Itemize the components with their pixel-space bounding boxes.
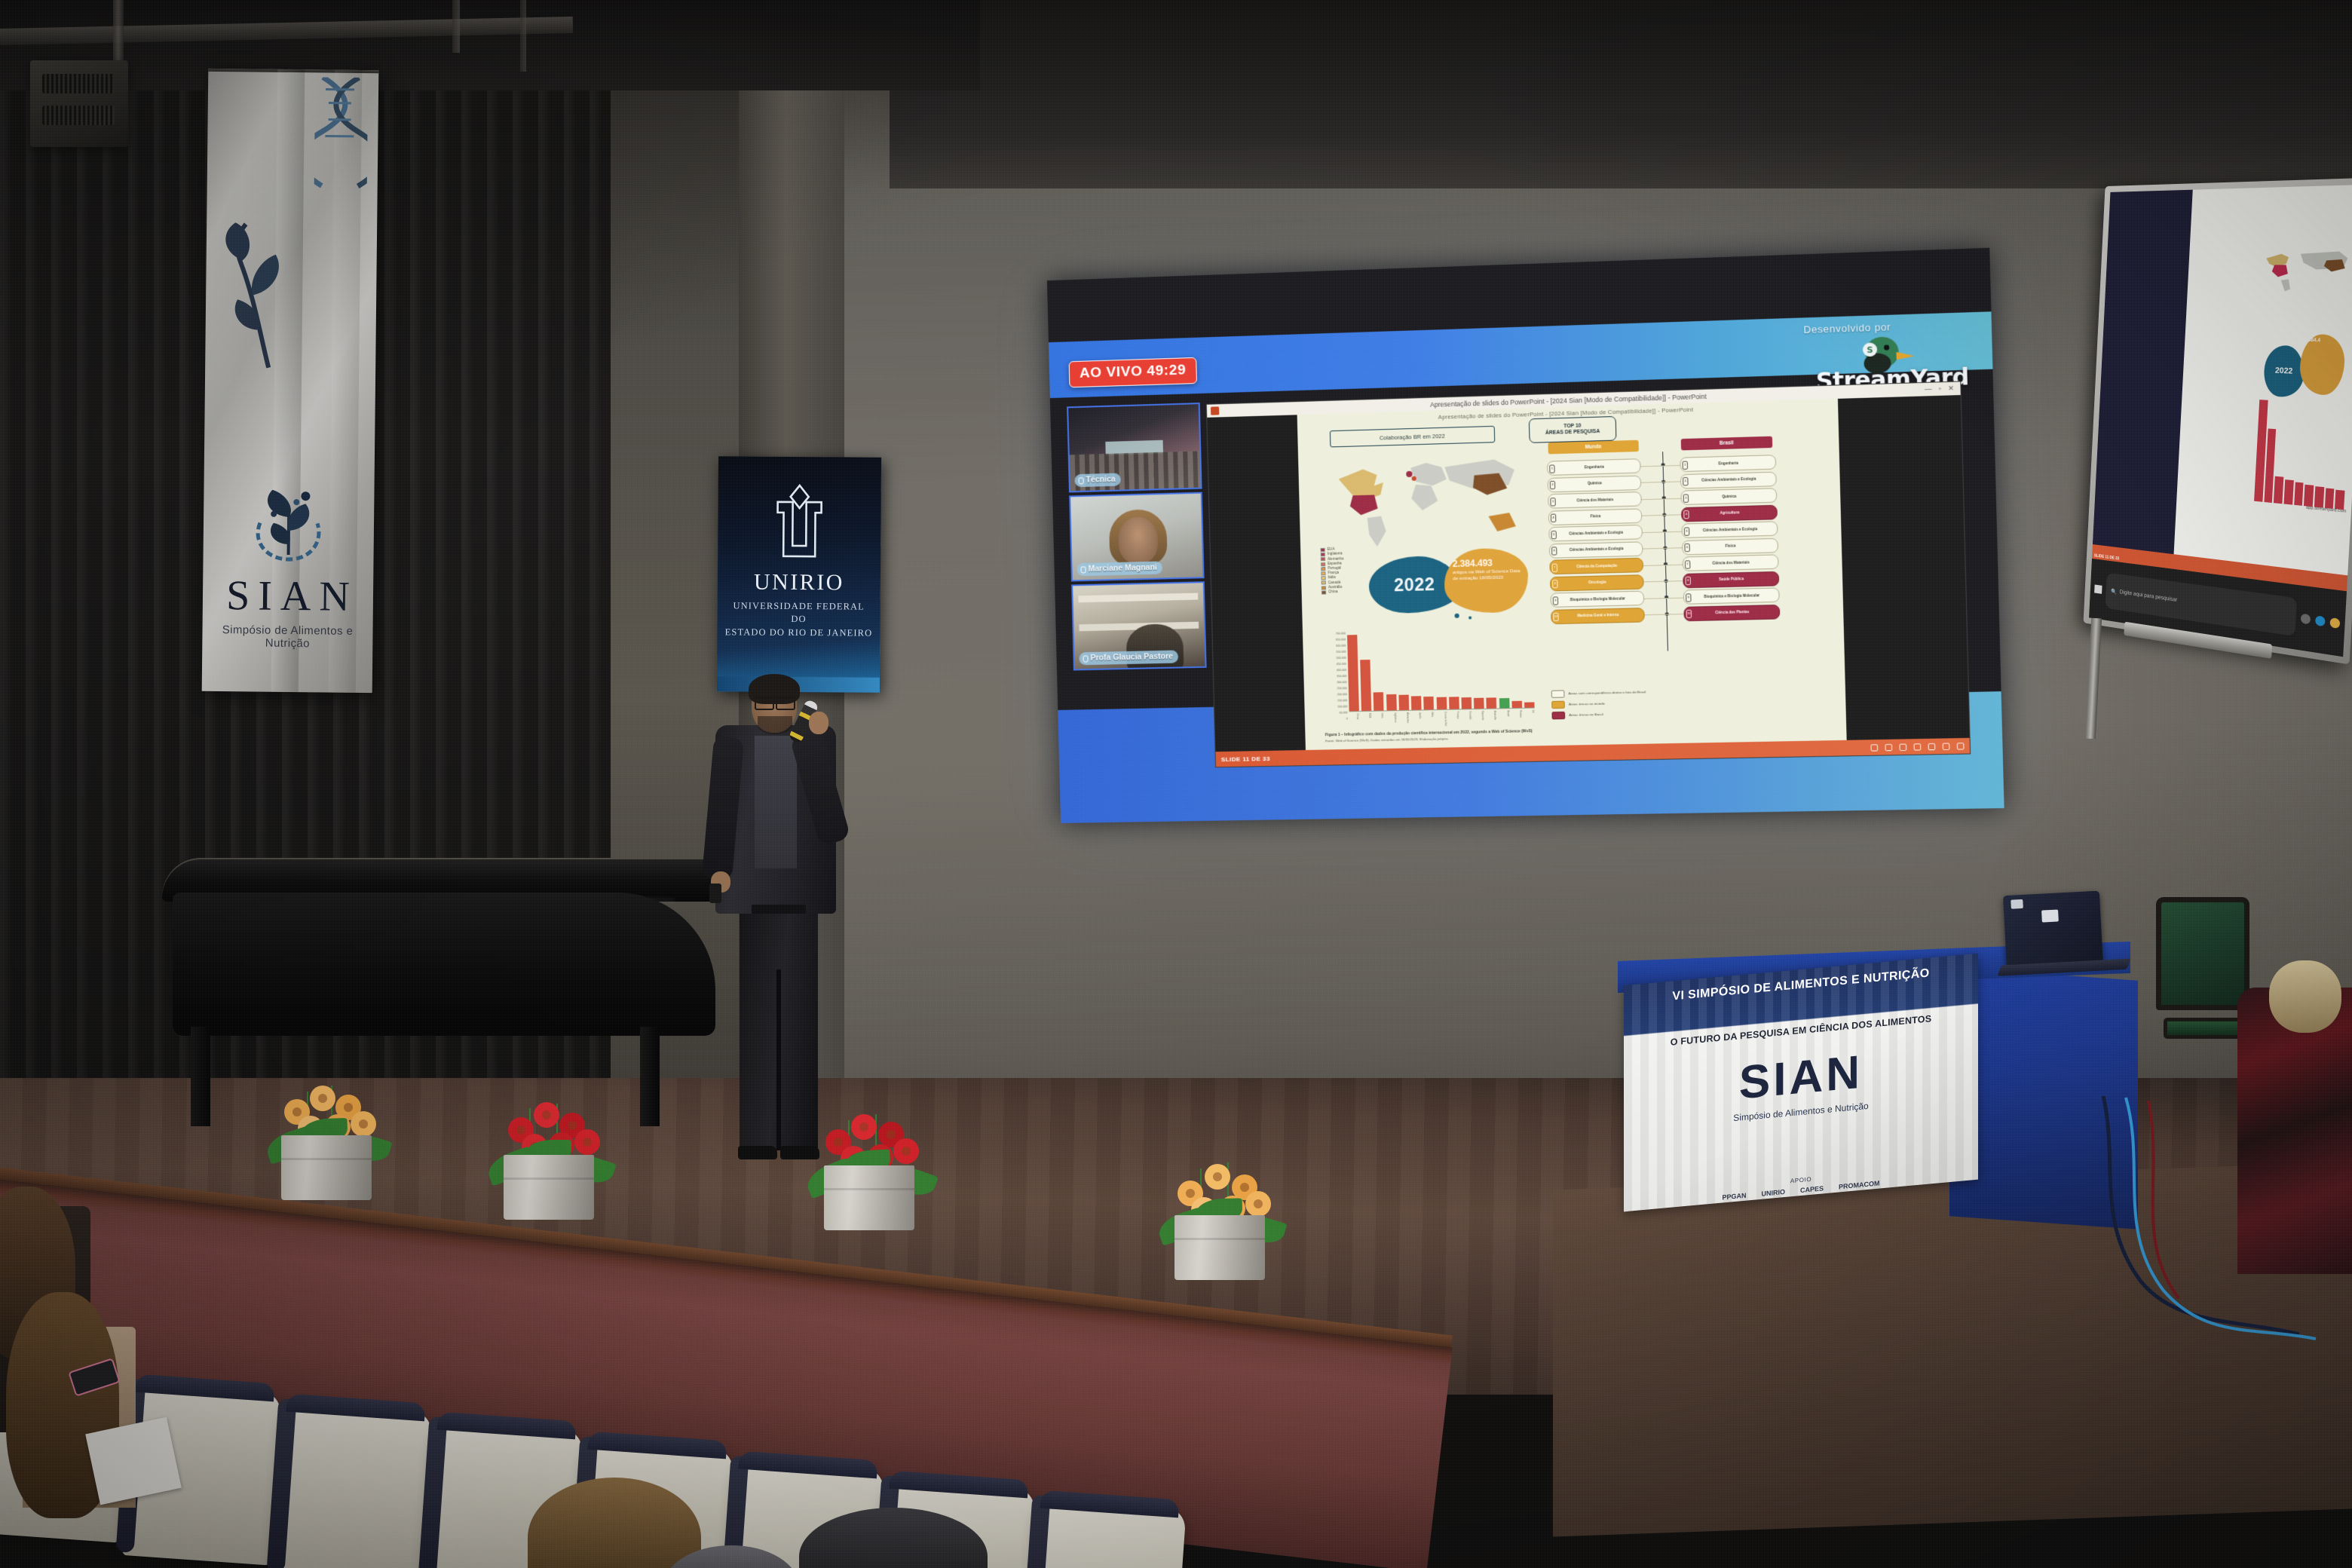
flower-bloom [534, 1102, 559, 1128]
laser-icon[interactable] [1899, 743, 1906, 750]
node-label: Saúde Pública [1719, 577, 1744, 581]
node-label: Ciência dos Materiais [1576, 498, 1613, 503]
laptop-lid [2003, 891, 2103, 969]
live-status-badge: AO VIVO 49:29 [1069, 357, 1197, 387]
audience-member [23, 1327, 136, 1508]
tree-connector [1642, 498, 1664, 500]
laptop [2003, 890, 2128, 986]
node-label: Ciências Ambientais e Ecologia [1570, 547, 1624, 552]
chart-bar [1347, 635, 1359, 711]
tree-connector [1643, 531, 1664, 533]
node-rank: 8 [1552, 580, 1558, 588]
chart-x-tick-label: França [1449, 712, 1459, 730]
top-areas-box: TOP 10 ÁREAS DE PESQUISA [1529, 416, 1617, 443]
flower-bloom [1245, 1191, 1271, 1217]
chart-bar [1499, 698, 1510, 708]
chart-x-tick-label: Alemanha [1399, 712, 1410, 731]
monitor-bezel: 2022 2.384.4 app.streamyard.com SLIDE 11… [2084, 177, 2352, 664]
chart-bar [1398, 694, 1409, 710]
unirio-logo-icon [773, 482, 826, 565]
dna-helix-icon [314, 77, 369, 198]
chart-bar [1374, 693, 1384, 711]
tree-connector [1643, 548, 1664, 550]
node-label: Bioquímica e Biologia Molecular [1704, 593, 1759, 599]
flower-bloom [1205, 1164, 1230, 1190]
flower-bloom [893, 1138, 919, 1164]
folder-icon[interactable] [2329, 617, 2340, 628]
world-map-graphic [1329, 448, 1524, 552]
research-area-node: 8Saúde Pública [1683, 571, 1779, 587]
tree-connector [1664, 498, 1681, 498]
node-rank: 1 [1682, 461, 1688, 469]
chart-x-tick-label: Austrália [1487, 711, 1497, 730]
laptop-sticker [2041, 909, 2059, 922]
node-label: Agricultura [1720, 511, 1739, 516]
research-area-node: 4Física [1548, 508, 1643, 525]
attendee-hair [2269, 960, 2341, 1033]
tree-connector [1645, 614, 1667, 615]
research-area-node: 8Oncologia [1550, 574, 1644, 591]
research-area-node: 7Ciência da Computação [1549, 558, 1643, 574]
participant-tiles: Técnica Marciane Magnani Profa Glaucia P… [1067, 403, 1207, 673]
monitor-screen: 2022 2.384.4 app.streamyard.com SLIDE 11… [2089, 185, 2352, 657]
sian-hanging-banner: SIAN Simpósio de Alimentos e Nutrição [202, 69, 379, 693]
node-rank: 6 [1684, 544, 1690, 552]
powerpoint-window[interactable]: Apresentação de slides do PowerPoint - [… [1206, 381, 1971, 767]
map-legend: EUA Inglaterra Alemanha Espanha Portugal… [1321, 547, 1376, 595]
leaf-branch-decoration-icon [219, 219, 318, 371]
tree-connector [1643, 581, 1665, 583]
research-area-node: 3Química [1680, 488, 1777, 505]
chart-y-tick-label: 0 [1328, 718, 1348, 725]
planter-pot [1174, 1215, 1265, 1280]
chart-x-tick-label: Rússia [1512, 710, 1523, 729]
sian-wordmark: SIAN [203, 571, 374, 621]
column-header-mundo: Mundo [1548, 440, 1639, 455]
node-label: Engenharia [1719, 461, 1738, 466]
stage-curtain-top [0, 0, 980, 90]
eyeglasses-icon [755, 697, 795, 706]
truss-drop-2 [452, 0, 460, 53]
presenter-belt [752, 905, 806, 914]
chart-bar [1360, 660, 1371, 711]
research-area-node: 10Medicina Geral e Interna [1551, 608, 1645, 624]
blob-dot [1454, 614, 1459, 618]
seated-attendee [2237, 988, 2352, 1274]
key-item: Áreas únicas no mundo [1551, 697, 1732, 709]
tree-connector [1640, 465, 1662, 467]
research-area-node: 9Bioquímica e Biologia Molecular [1683, 587, 1780, 604]
grid-icon[interactable] [1928, 743, 1936, 749]
node-label: Ciência dos Materiais [1712, 560, 1749, 565]
unirio-wordmark: UNIRIO [718, 569, 880, 596]
node-rank: 6 [1551, 547, 1557, 555]
chart-bar [1511, 701, 1522, 709]
tree-connector [1666, 597, 1683, 598]
presenter-shoe [738, 1146, 777, 1159]
blob-dot [1468, 616, 1472, 619]
window-controls[interactable]: — ▫ ✕ [1925, 384, 1956, 394]
research-area-node: 1Engenharia [1547, 458, 1641, 476]
slide-surface: Apresentação de slides do PowerPoint - [… [1297, 399, 1847, 750]
pointer-icon[interactable] [1870, 744, 1878, 751]
chart-bar [1386, 694, 1397, 710]
flower-bloom [851, 1114, 877, 1140]
chart-x-tick-label: Itália [1424, 712, 1435, 730]
node-label: Física [1591, 514, 1601, 519]
node-rank: 3 [1683, 494, 1689, 502]
chart-x-tick-label: China [1349, 713, 1360, 732]
participant-tile[interactable]: Marciane Magnani [1069, 492, 1205, 582]
chart-x-tick-label: Espanha [1475, 711, 1485, 730]
chart-bar [1487, 698, 1497, 709]
chart-x-tick-label: EUA [1361, 713, 1372, 732]
monitor-bar-chart [2254, 400, 2350, 510]
node-label: Ciências Ambientais e Ecologia [1701, 477, 1756, 482]
node-rank: 1 [1549, 464, 1555, 473]
secondary-monitor: 2022 2.384.4 app.streamyard.com SLIDE 11… [2084, 177, 2352, 664]
node-label: Bioquímica e Biologia Molecular [1570, 596, 1625, 602]
research-area-node: 4Agricultura [1681, 504, 1778, 522]
research-area-node: 2Ciências Ambientais e Ecologia [1680, 471, 1777, 488]
tree-connector [1665, 564, 1683, 565]
node-label: Engenharia [1585, 465, 1604, 470]
node-rank: 4 [1683, 510, 1689, 519]
svg-text:S: S [1867, 345, 1873, 356]
research-area-node: 7Ciência dos Materiais [1683, 554, 1779, 571]
pen-icon[interactable] [1885, 743, 1892, 750]
auditorium-seat[interactable] [1027, 1498, 1187, 1568]
table-front-banner: VI SIMPÓSIO DE ALIMENTOS E NUTRIÇÃO O FU… [1624, 954, 1978, 1212]
sian-tagline: Simpósio de Alimentos e Nutrição [202, 623, 372, 651]
tree-connector [1641, 482, 1663, 483]
powerpoint-canvas: Apresentação de slides do PowerPoint - [… [1207, 395, 1969, 752]
chart-x-tick-label: Brasil [1499, 710, 1510, 729]
node-rank: 9 [1686, 593, 1692, 602]
audience-seating [0, 1176, 1176, 1568]
top-areas-line2: ÁREAS DE PESQUISA [1545, 429, 1600, 436]
auditorium-seat[interactable] [273, 1401, 433, 1568]
area-color-key: Áreas com correspondência dentro e fora … [1551, 687, 1732, 723]
node-rank: 7 [1685, 560, 1691, 568]
node-label: Ciências Ambientais e Ecologia [1569, 531, 1623, 536]
node-label: Química [1588, 482, 1602, 486]
presenter-shirt [755, 736, 797, 868]
tree-connector [1644, 598, 1666, 599]
flower-bloom [310, 1086, 335, 1111]
truss-drop-3 [520, 0, 526, 72]
chart-bar [1474, 698, 1484, 709]
chart-y-axis: 700.000650.000600.000550.000500.000450.0… [1325, 632, 1347, 712]
task-view-icon[interactable] [2301, 613, 2311, 624]
unirio-line1: Universidade Federal do [718, 599, 880, 626]
windows-icon[interactable] [2094, 584, 2102, 593]
chart-x-tick-label: Irã [1524, 710, 1535, 729]
piano-leg [640, 1027, 660, 1126]
magnifier-icon: 🔍 [2111, 588, 2117, 595]
edge-icon[interactable] [2315, 615, 2326, 626]
presentation-toolbar[interactable] [1870, 743, 1964, 752]
search-placeholder: Digite aqui para pesquisar [2120, 590, 2178, 603]
sian-logo-group: SIAN Simpósio de Alimentos e Nutrição [202, 476, 374, 651]
tree-connector [1666, 580, 1683, 581]
node-rank: 7 [1552, 563, 1558, 571]
node-label: Química [1722, 495, 1736, 499]
presenter-leg-split [776, 969, 781, 1150]
presentation-clicker [709, 884, 721, 903]
research-area-node: 6Ciências Ambientais e Ecologia [1549, 541, 1643, 558]
stat-number: 2.384.493 [1453, 557, 1521, 569]
chart-plot-area [1347, 629, 1535, 712]
collaboration-box: Colaboração BR em 2022 [1330, 426, 1495, 448]
node-rank: 2 [1683, 477, 1689, 485]
participant-name: Profa Glaucia Pastore [1079, 650, 1178, 665]
participant-name: Marciane Magnani [1076, 561, 1162, 576]
tree-connector [1642, 515, 1664, 516]
chart-bar [1424, 697, 1435, 710]
node-rank: 4 [1551, 514, 1557, 522]
chart-x-tick-label: Coreia do Sul [1437, 712, 1447, 730]
unirio-line2: Estado do Rio de Janeiro [717, 626, 880, 639]
presenter-beard [758, 716, 792, 734]
unirio-banner: UNIRIO Universidade Federal do Estado do… [717, 456, 881, 693]
chart-bar [1461, 697, 1472, 709]
tree-connector [1664, 547, 1682, 548]
chart-x-tick-label: Canadá [1462, 711, 1472, 730]
monitor-stat-blob: 2.384.4 [2298, 334, 2346, 396]
stat-blob: 2.384.493 artigos na Web of Science Data… [1444, 547, 1529, 614]
chart-x-tick-label: Índia [1374, 713, 1385, 732]
tree-connector [1664, 531, 1682, 531]
presenter-right-hand [809, 712, 828, 734]
node-rank: 8 [1685, 577, 1691, 585]
node-rank: 2 [1550, 481, 1556, 489]
legend-item: China [1321, 590, 1375, 595]
piano-leg [191, 1027, 210, 1126]
research-area-node: 10Ciência das Plantas [1683, 604, 1780, 620]
top10-research-areas-tree: Mundo Brasil 1Engenharia2Química3Ciência… [1543, 435, 1825, 704]
key-item: Áreas únicas no Brasil [1551, 709, 1732, 720]
node-rank: 5 [1684, 527, 1690, 535]
chart-bar [1524, 702, 1535, 707]
pause-icon[interactable] [1914, 743, 1922, 750]
flower-bloom [574, 1129, 600, 1155]
chart-bar [1436, 697, 1447, 709]
node-rank: 5 [1551, 530, 1557, 538]
head-table: VI SIMPÓSIO DE ALIMENTOS E NUTRIÇÃO O FU… [1618, 951, 2130, 1268]
slide-counter: SLIDE 11 DE 33 [1221, 755, 1270, 762]
chair-back [2156, 897, 2249, 1010]
monitor-world-map-icon [2260, 218, 2352, 323]
node-label: Ciências Ambientais e Ecologia [1703, 527, 1757, 532]
powerpoint-icon [1211, 406, 1219, 415]
chart-bar [1449, 697, 1459, 709]
chart-x-tick-label: Inglaterra [1386, 712, 1397, 731]
tile-shelf [1078, 593, 1198, 603]
participant-tile[interactable]: Profa Glaucia Pastore [1071, 581, 1207, 670]
tile-face [1118, 516, 1158, 564]
grand-piano [162, 858, 735, 1092]
node-label: Oncologia [1588, 580, 1606, 585]
projection-screen: Desenvolvido por S StreamYard AO VIVO 49… [1047, 248, 2004, 823]
node-rank: 3 [1550, 498, 1556, 506]
column-header-brasil: Brasil [1681, 436, 1773, 451]
node-label: Ciência da Computação [1576, 564, 1617, 569]
participant-name: Técnica [1074, 473, 1121, 487]
stat-text: artigos na Web of Science Data de extraç… [1453, 568, 1521, 583]
chart-bar [1411, 697, 1422, 710]
tree-connector [1643, 565, 1665, 566]
research-area-node: 2Química [1548, 475, 1642, 492]
node-label: Física [1726, 544, 1736, 549]
node-rank: 10 [1686, 610, 1692, 618]
sian-plant-emblem-icon [243, 476, 334, 567]
research-area-node: 6Física [1682, 537, 1778, 555]
research-area-node: 1Engenharia [1680, 455, 1776, 472]
piano-body [173, 893, 715, 1036]
research-area-node: 5Ciências Ambientais e Ecologia [1682, 521, 1778, 538]
tree-connector [1664, 514, 1681, 515]
auditorium-stage-photo: SIAN Simpósio de Alimentos e Nutrição UN… [0, 0, 2352, 1568]
flower-bloom [351, 1111, 376, 1137]
zoom-icon[interactable] [1943, 743, 1950, 749]
research-area-node: 5Ciências Ambientais e Ecologia [1548, 525, 1643, 542]
country-bar-chart: 700.000650.000600.000550.000500.000450.0… [1325, 629, 1534, 723]
participant-tile[interactable]: Técnica [1067, 403, 1202, 492]
node-label: Ciência das Plantas [1715, 610, 1749, 614]
tree-connector [1667, 614, 1684, 614]
stage-upper-dark-wall [890, 0, 2352, 188]
node-label: Medicina Geral e Interna [1577, 613, 1619, 618]
pa-speaker-cabinet [30, 60, 128, 147]
more-icon[interactable] [1957, 743, 1965, 749]
tree-connector [1663, 464, 1680, 465]
chart-x-tick-label: Japão [1411, 712, 1422, 731]
research-area-node: 3Ciência dos Materiais [1548, 492, 1642, 509]
monitor-year-blob: 2022 [2263, 345, 2305, 398]
tree-connector [1663, 481, 1680, 482]
node-rank: 10 [1553, 613, 1559, 621]
node-rank: 9 [1553, 596, 1559, 605]
laptop-sticker [2011, 899, 2023, 909]
research-area-node: 9Bioquímica e Biologia Molecular [1550, 591, 1644, 608]
monitor-slide-area: 2022 2.384.4 app.streamyard.com [2173, 185, 2352, 592]
